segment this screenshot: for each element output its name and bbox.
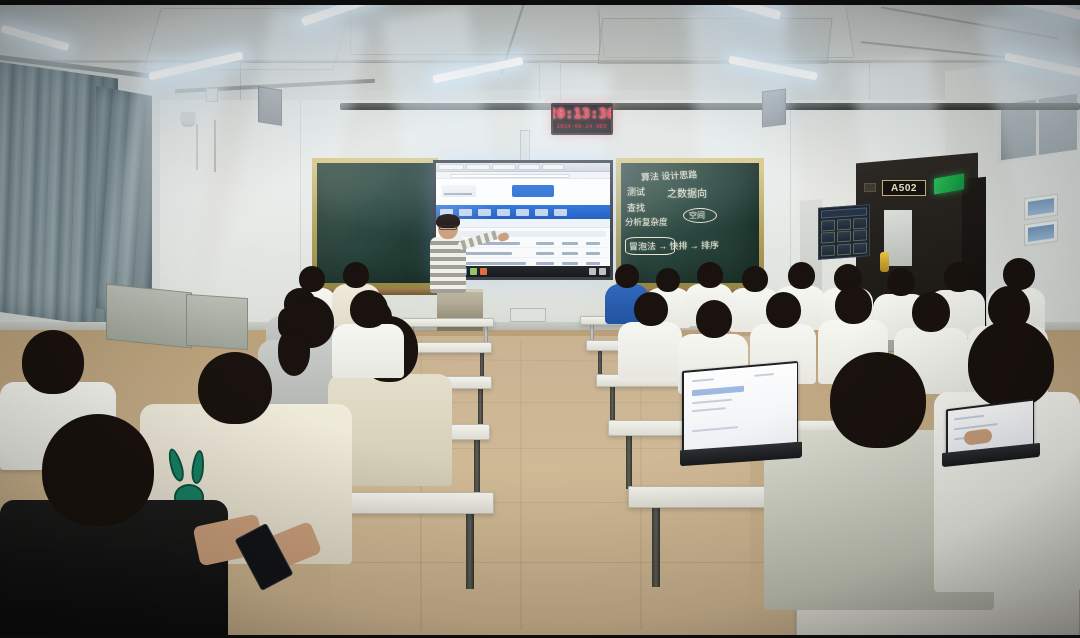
classroom-photo: 20:13:36 2024-09-24 WED 算法 设计思路 之数据向 测试 … <box>0 0 1080 638</box>
ceiling-conduit <box>881 6 1059 39</box>
wall-cable <box>196 124 198 170</box>
chalk-box <box>625 237 675 255</box>
laptop-screen[interactable] <box>684 363 797 452</box>
room-number-sign: A502 <box>882 180 926 196</box>
window-curtain-left-inner <box>96 86 152 318</box>
wall-speaker-right <box>762 89 786 128</box>
ceiling-panel <box>560 62 870 104</box>
chalk-line: 测试 <box>627 187 645 197</box>
ceiling-panel <box>350 0 600 55</box>
room-number-text: A502 <box>891 183 917 194</box>
student-mid-right-a <box>616 292 684 376</box>
chalk-line: 查找 <box>627 203 645 213</box>
chalk-line: 分析复杂度 <box>625 218 668 228</box>
chalk-line: 之数据向 <box>667 189 707 201</box>
instructor-glasses <box>439 225 457 230</box>
corridor-window <box>998 90 1080 164</box>
site-logo <box>442 185 476 197</box>
wall-cable <box>214 120 216 172</box>
door-small-plate <box>864 183 876 192</box>
clock-time-display: 20:13:36 <box>551 108 613 121</box>
wall-outlet-panel <box>510 308 546 322</box>
ceiling-beam <box>0 60 1080 63</box>
chalk-circle <box>683 208 717 223</box>
student-mid-left <box>330 290 406 374</box>
wall-fixture <box>206 88 218 102</box>
led-wall-clock: 20:13:36 2024-09-24 WED <box>551 103 613 135</box>
student-front-left-black <box>0 414 230 638</box>
ceiling-rail <box>340 103 1080 110</box>
student-laptop-center[interactable] <box>682 366 802 468</box>
chalk-line: 算法 设计思路 <box>641 170 698 183</box>
ceiling-duct <box>598 18 833 64</box>
browser-tab-bar[interactable] <box>436 163 610 172</box>
instructor <box>424 216 486 311</box>
wall-speaker-left <box>258 86 282 126</box>
search-button[interactable] <box>512 185 554 197</box>
clock-date-display: 2024-09-24 WED <box>557 124 608 130</box>
classroom-control-panel[interactable] <box>818 204 870 260</box>
back-cabinet-left-2 <box>186 294 248 350</box>
security-camera <box>180 112 196 124</box>
browser-address-bar[interactable] <box>436 172 610 179</box>
student-laptop-right[interactable] <box>946 404 1042 476</box>
